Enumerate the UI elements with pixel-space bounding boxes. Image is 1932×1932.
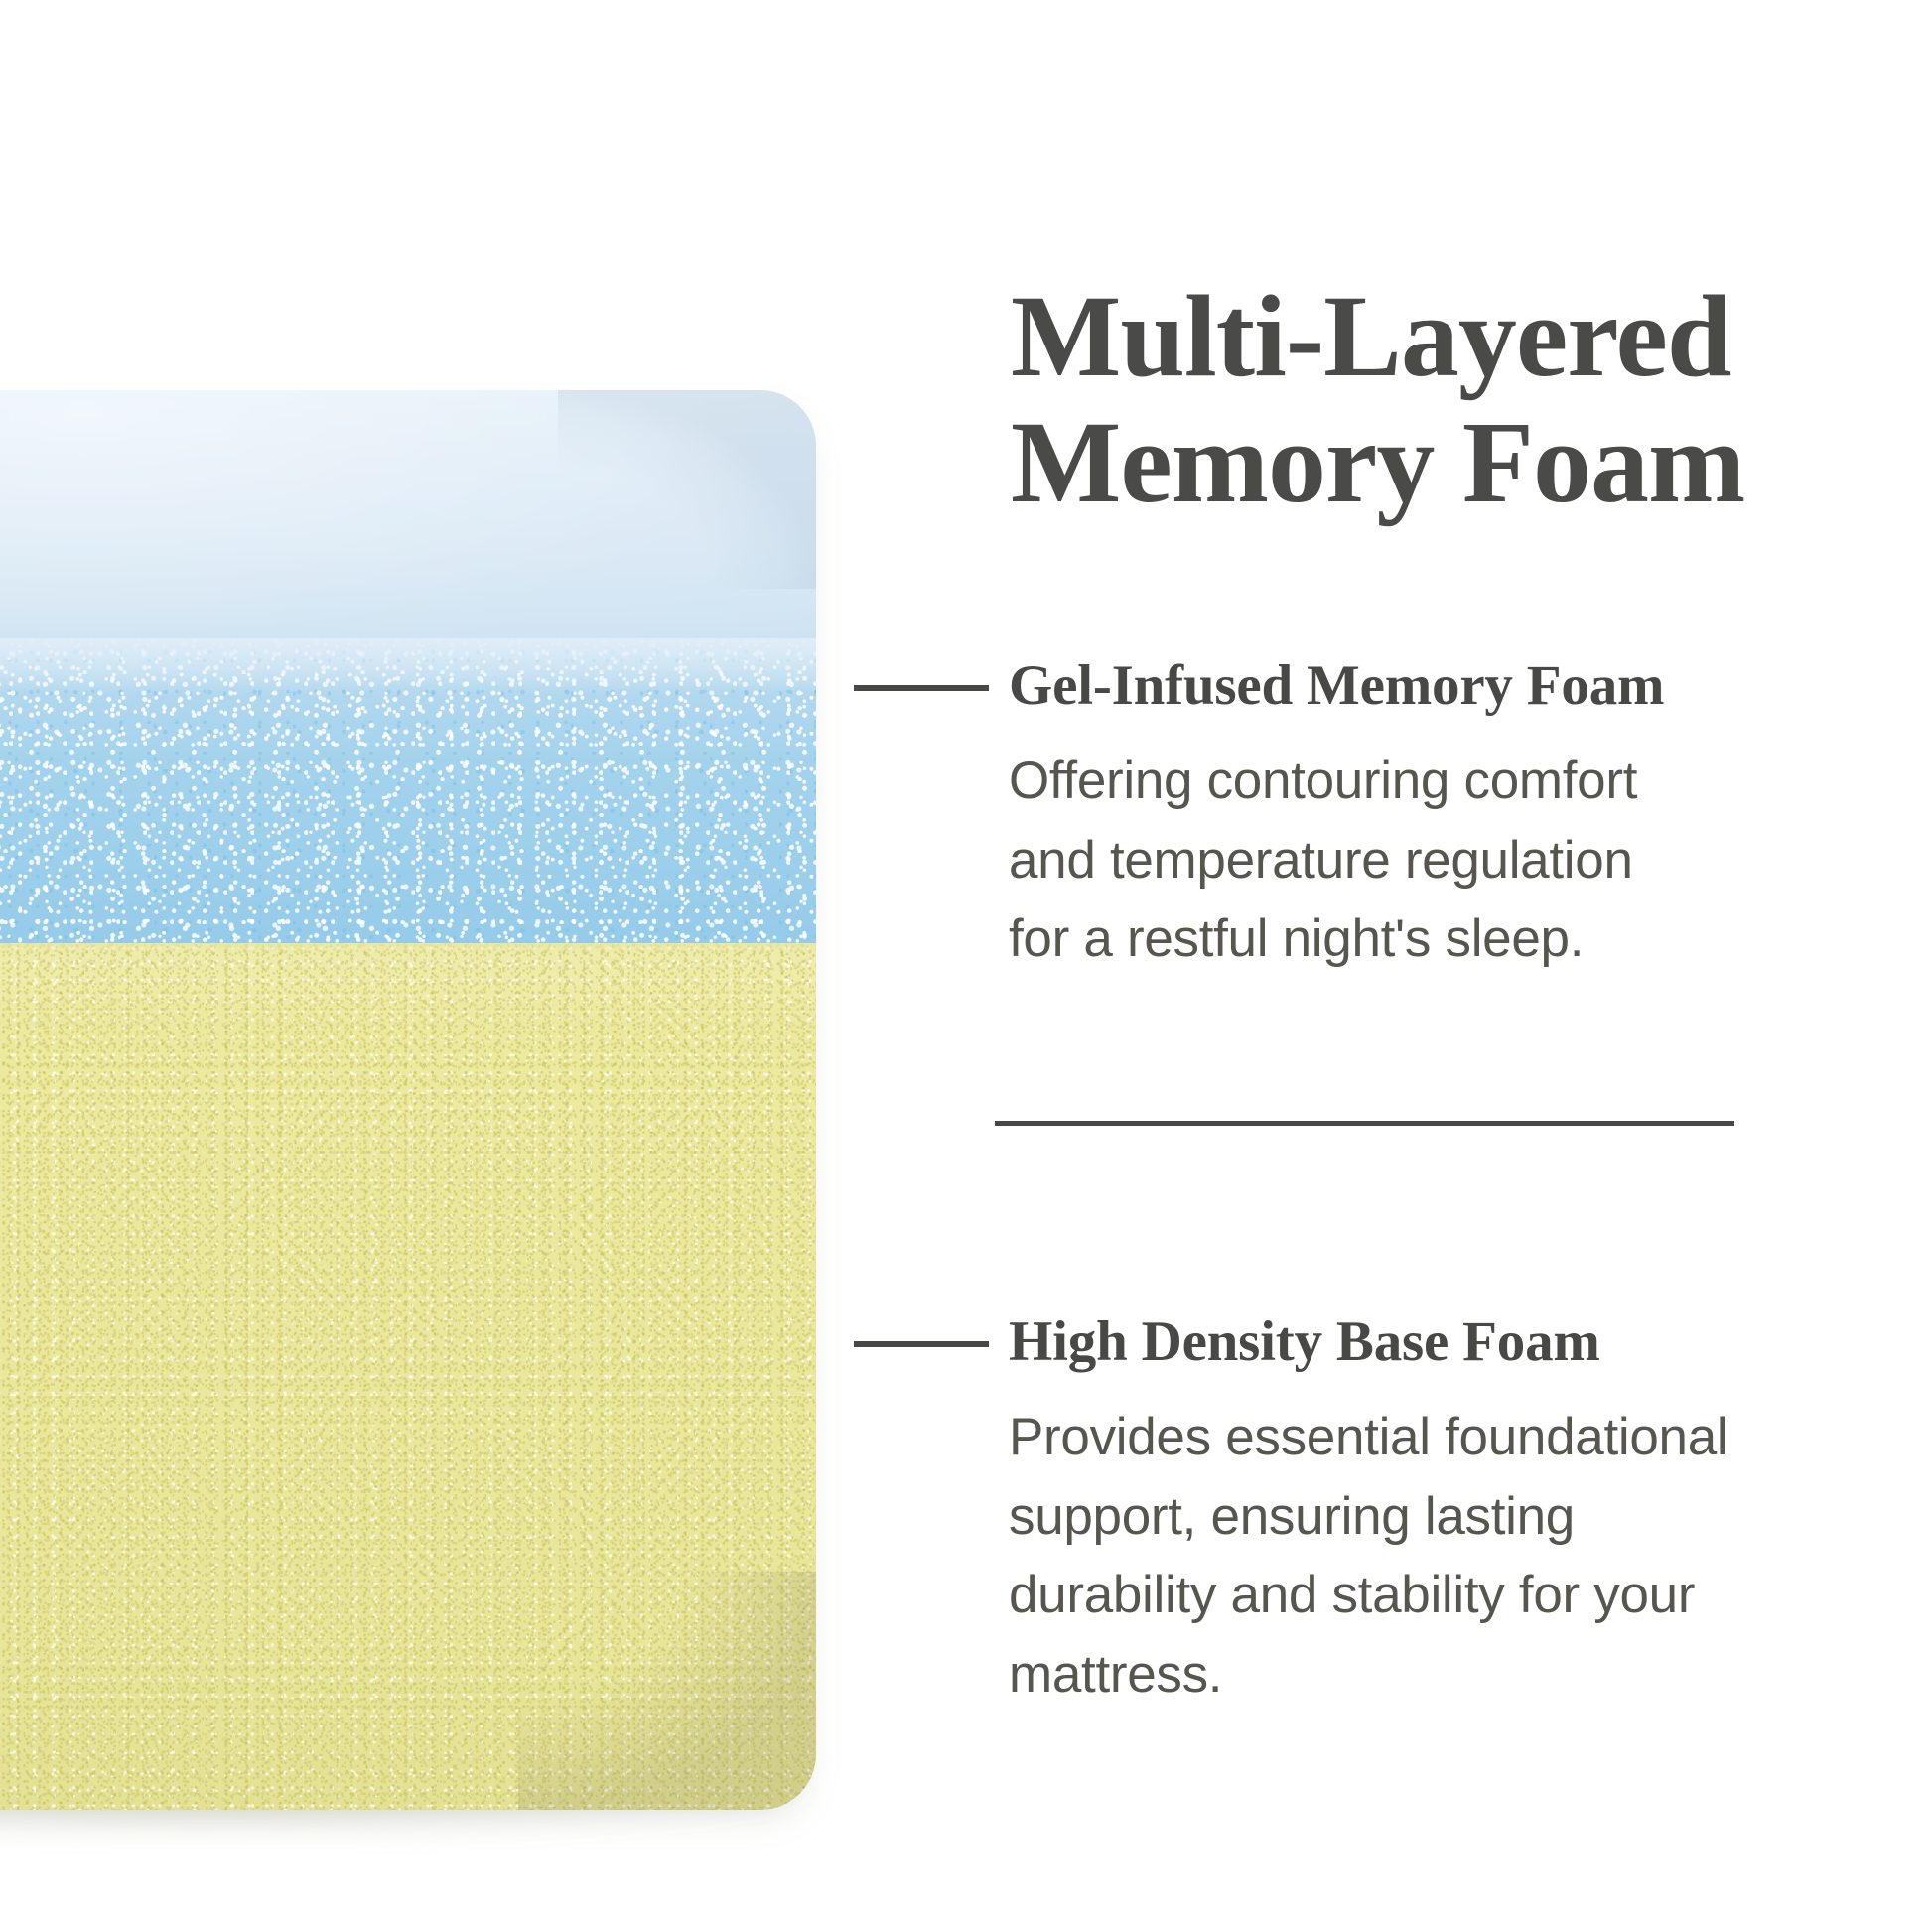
- feature-content: High Density Base Foam Provides essentia…: [1009, 1313, 1886, 1714]
- page-title: Multi-Layered Memory Foam: [1011, 273, 1835, 526]
- feature-heading: Gel-Infused Memory Foam: [1009, 657, 1747, 714]
- gel-foam-top-surface: [0, 390, 816, 660]
- feature-description: Offering contouring comfort and temperat…: [1009, 742, 1704, 979]
- base-foam-layer: [0, 943, 816, 1810]
- feature-callout-high-density-base-foam: High Density Base Foam Provides essentia…: [854, 1313, 1886, 1714]
- feature-content: Gel-Infused Memory Foam Offering contour…: [1009, 657, 1747, 979]
- page-title-line-2: Memory Foam: [1011, 399, 1835, 525]
- section-divider: [995, 1121, 1734, 1126]
- page-title-line-1: Multi-Layered: [1011, 273, 1835, 399]
- leader-line-icon: [854, 1341, 989, 1347]
- feature-heading: High Density Base Foam: [1009, 1313, 1886, 1370]
- feature-description: Provides essential foundational support,…: [1009, 1398, 1763, 1714]
- infographic-canvas: Multi-Layered Memory Foam Gel-Infused Me…: [0, 0, 1932, 1932]
- leader-line-icon: [854, 685, 989, 691]
- foam-block-image: [0, 390, 816, 1810]
- feature-callout-gel-infused-memory-foam: Gel-Infused Memory Foam Offering contour…: [854, 657, 1747, 979]
- gel-foam-layer: [0, 638, 816, 946]
